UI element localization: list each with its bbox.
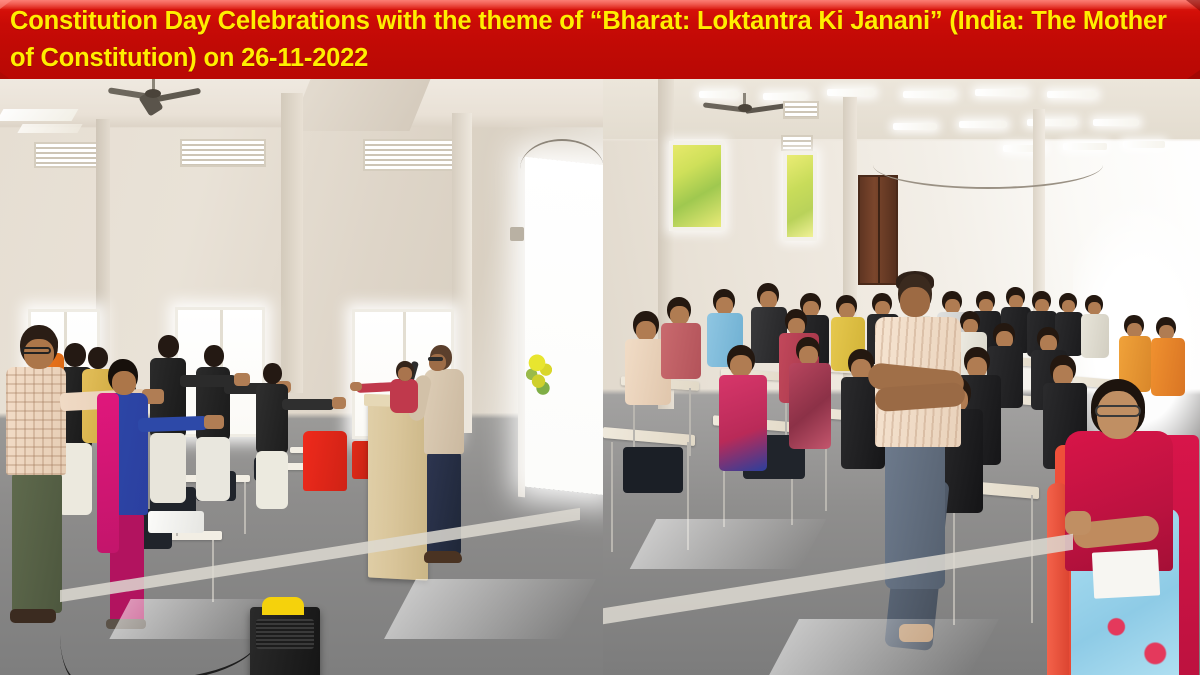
wall-ventilator bbox=[180, 139, 266, 167]
tube-light bbox=[17, 124, 82, 133]
participant-face bbox=[398, 367, 412, 381]
wall-ventilator bbox=[781, 135, 813, 151]
projector-screen bbox=[525, 157, 603, 495]
chair bbox=[623, 447, 683, 493]
desk-leg bbox=[689, 388, 691, 456]
ceiling-light bbox=[1093, 119, 1139, 126]
speaker-eyeglasses bbox=[428, 357, 443, 361]
red-plastic-chair bbox=[303, 431, 347, 491]
foreground-man-face bbox=[900, 287, 930, 317]
wall-speaker bbox=[510, 227, 524, 241]
wall-ventilator bbox=[34, 142, 102, 168]
slide-page: Constitution Day Celebrations with the t… bbox=[0, 0, 1200, 675]
window bbox=[783, 151, 817, 241]
photo-left bbox=[0, 79, 603, 675]
ceiling-beam bbox=[289, 79, 430, 131]
projector-screen-frame bbox=[518, 157, 525, 498]
ceiling-light bbox=[699, 91, 739, 98]
wall-ventilator bbox=[363, 139, 463, 171]
foreground-woman-eyeglasses bbox=[1095, 405, 1141, 417]
foreground-man-foot bbox=[899, 624, 933, 642]
page-title: Constitution Day Celebrations with the t… bbox=[10, 3, 1192, 77]
photo-strip bbox=[0, 79, 1200, 675]
door bbox=[858, 175, 898, 285]
tube-light bbox=[0, 109, 78, 121]
speaker-grille bbox=[256, 619, 314, 649]
speaker-shoe bbox=[424, 551, 462, 563]
ceiling-light bbox=[1063, 143, 1107, 150]
ceiling-light bbox=[763, 93, 807, 100]
ceiling-light bbox=[1123, 141, 1165, 148]
banner-bevel-bottom-left bbox=[0, 72, 10, 79]
desk-leg bbox=[1031, 495, 1033, 623]
foreground-woman-hand bbox=[1065, 511, 1091, 535]
participant-torso bbox=[390, 379, 418, 413]
window bbox=[669, 141, 725, 231]
ceiling-fan-hub bbox=[145, 89, 161, 98]
table-leg bbox=[244, 482, 246, 534]
desk-leg bbox=[611, 442, 613, 552]
ceiling-light bbox=[975, 89, 1027, 96]
ceiling-light bbox=[893, 123, 937, 130]
wall-ventilator bbox=[783, 101, 819, 119]
paper-sheet bbox=[1092, 549, 1160, 598]
ceiling-fan-hub bbox=[738, 104, 752, 112]
ceiling-light bbox=[827, 89, 875, 96]
desk-leg bbox=[687, 442, 689, 550]
ceiling-light bbox=[1047, 91, 1097, 98]
podium bbox=[368, 399, 428, 580]
photo-right bbox=[603, 79, 1200, 675]
projector-device bbox=[148, 511, 204, 533]
flower-bouquet bbox=[525, 349, 555, 395]
ceiling-light bbox=[903, 91, 955, 98]
participant-hand bbox=[350, 382, 362, 391]
speaker-handle bbox=[262, 597, 304, 615]
title-banner: Constitution Day Celebrations with the t… bbox=[0, 0, 1200, 79]
ceiling-light bbox=[959, 121, 1007, 128]
ceiling bbox=[603, 79, 1200, 139]
wall-pillar bbox=[281, 93, 303, 393]
